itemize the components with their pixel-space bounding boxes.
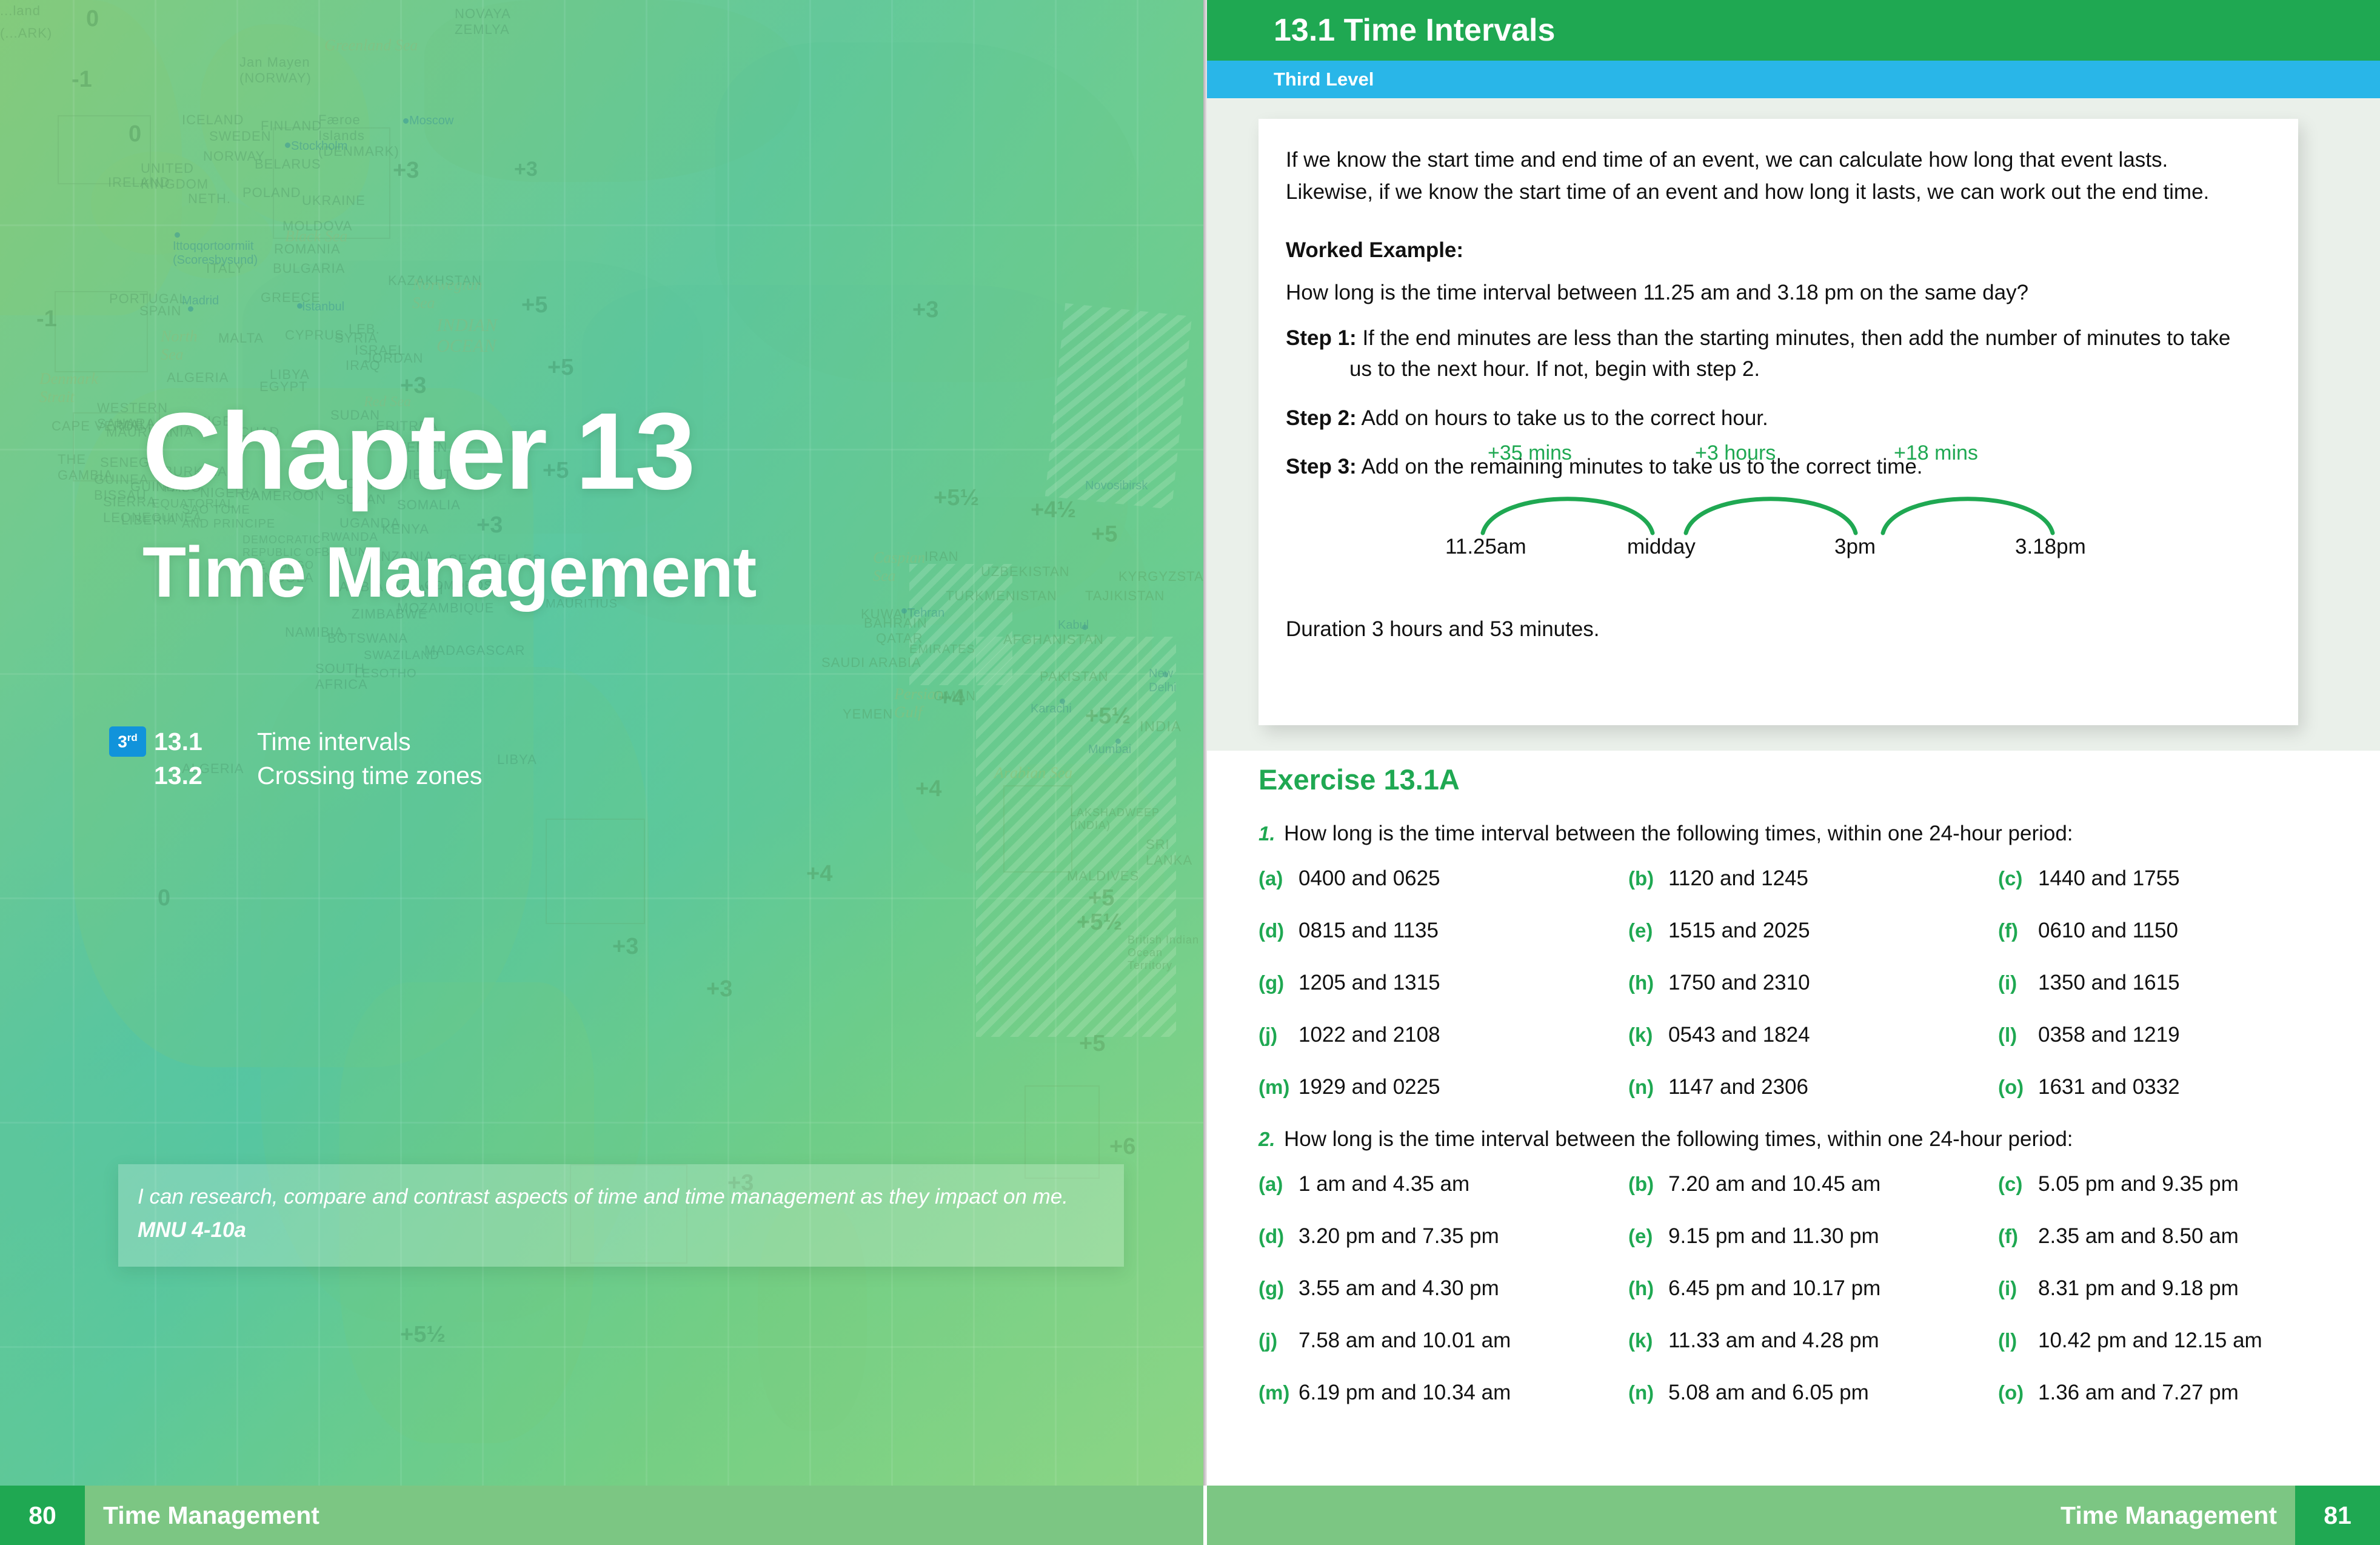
question-item-row: (g)1205 and 1315 (h)1750 and 2310 (i)135… (1259, 971, 2344, 995)
learning-intention-box: I can research, compare and contrast asp… (118, 1164, 1124, 1267)
question-item[interactable]: (e)9.15 pm and 11.30 pm (1628, 1224, 1998, 1248)
right-page: 13.1 Time Intervals Third Level If we kn… (1207, 0, 2380, 1545)
item-text: 1350 and 1615 (2038, 971, 2180, 995)
question-item[interactable]: (o)1631 and 0332 (1998, 1075, 2368, 1099)
question-item[interactable]: (n)5.08 am and 6.05 pm (1628, 1381, 1998, 1405)
question-2-head: 2. How long is the time interval between… (1259, 1127, 2344, 1151)
item-text: 1515 and 2025 (1668, 919, 1810, 943)
learning-intention-text: I can research, compare and contrast asp… (138, 1182, 1105, 1211)
worked-example-question: How long is the time interval between 11… (1286, 281, 2274, 305)
item-letter: (k) (1628, 1329, 1668, 1352)
item-letter: (b) (1628, 1173, 1668, 1196)
toc-item-13-2[interactable]: 13.2 Crossing time zones (109, 759, 482, 793)
level-badge-label: 3rd (118, 732, 138, 751)
question-1-number: 1. (1259, 822, 1284, 845)
textbook-spread: 0 -1 0 -1 +3 +3 +3 . . . . +5 . +3 +5 +3… (0, 0, 2380, 1545)
item-text: 1120 and 1245 (1668, 866, 1808, 891)
question-item[interactable]: (j)7.58 am and 10.01 am (1259, 1329, 1628, 1353)
item-letter: (a) (1259, 867, 1299, 890)
step-1-line-2: us to the next hour. If not, begin with … (1349, 357, 1760, 381)
question-1-prompt: How long is the time interval between th… (1284, 822, 2073, 846)
exercise-title: Exercise 13.1A (1259, 763, 2344, 796)
item-text: 3.20 pm and 7.35 pm (1299, 1224, 1499, 1248)
question-item[interactable]: (k)0543 and 1824 (1628, 1023, 1998, 1047)
item-letter: (d) (1259, 1225, 1299, 1248)
question-item[interactable]: (m)6.19 pm and 10.34 am (1259, 1381, 1628, 1405)
item-letter: (k) (1628, 1024, 1668, 1047)
question-item[interactable]: (h)1750 and 2310 (1628, 971, 1998, 995)
question-1-items: (a)0400 and 0625 (b)1120 and 1245 (c)144… (1259, 866, 2344, 1099)
item-letter: (i) (1998, 971, 2038, 994)
item-text: 0400 and 0625 (1299, 866, 1440, 891)
item-letter: (f) (1998, 1225, 2038, 1248)
question-item[interactable]: (g)3.55 am and 4.30 pm (1259, 1276, 1628, 1301)
item-letter: (j) (1259, 1024, 1299, 1047)
item-text: 1022 and 2108 (1299, 1023, 1440, 1047)
item-letter: (b) (1628, 867, 1668, 890)
question-item-row: (d)3.20 pm and 7.35 pm (e)9.15 pm and 11… (1259, 1224, 2344, 1248)
item-letter: (g) (1259, 971, 1299, 994)
left-page-number: 80 (0, 1486, 85, 1545)
item-text: 2.35 am and 8.50 am (2038, 1224, 2239, 1248)
question-item-row: (j)1022 and 2108 (k)0543 and 1824 (l)035… (1259, 1023, 2344, 1047)
left-page: 0 -1 0 -1 +3 +3 +3 . . . . +5 . +3 +5 +3… (0, 0, 1203, 1545)
item-letter: (m) (1259, 1076, 1299, 1099)
question-item[interactable]: (g)1205 and 1315 (1259, 971, 1628, 995)
tick-label-3: 3pm (1834, 535, 1876, 559)
item-text: 11.33 am and 4.28 pm (1668, 1329, 1879, 1353)
arc-label-3: +18 mins (1894, 441, 1978, 465)
question-item[interactable]: (o)1.36 am and 7.27 pm (1998, 1381, 2368, 1405)
worked-example-step-2: Step 2: Add on hours to take us to the c… (1286, 403, 2274, 434)
question-item[interactable]: (i)8.31 pm and 9.18 pm (1998, 1276, 2368, 1301)
arc-label-1: +35 mins (1488, 441, 1572, 465)
question-2-prompt: How long is the time interval between th… (1284, 1127, 2073, 1151)
tick-label-2: midday (1627, 535, 1696, 559)
step-1-label: Step 1: (1286, 326, 1357, 350)
question-item[interactable]: (d)3.20 pm and 7.35 pm (1259, 1224, 1628, 1248)
step-3-label: Step 3: (1286, 455, 1357, 478)
question-item[interactable]: (f)2.35 am and 8.50 am (1998, 1224, 2368, 1248)
toc-label: Crossing time zones (257, 762, 482, 790)
item-letter: (n) (1628, 1381, 1668, 1404)
worked-example-step-1: Step 1: If the end minutes are less than… (1286, 323, 2274, 354)
question-item[interactable]: (f)0610 and 1150 (1998, 919, 2368, 943)
level-badge-third: 3rd (109, 726, 146, 757)
toc-number: 13.2 (154, 762, 257, 790)
toc-label: Time intervals (257, 728, 411, 756)
question-item-row: (m)6.19 pm and 10.34 am (n)5.08 am and 6… (1259, 1381, 2344, 1405)
item-letter: (i) (1998, 1277, 2038, 1300)
item-text: 0358 and 1219 (2038, 1023, 2180, 1047)
item-letter: (e) (1628, 1225, 1668, 1248)
step-1-line-1: If the end minutes are less than the sta… (1362, 326, 2230, 350)
example-intro-line-1: If we know the start time and end time o… (1286, 144, 2274, 176)
worked-example-step-1-cont: us to the next hour. If not, begin with … (1286, 354, 2274, 385)
question-2-items: (a)1 am and 4.35 am (b)7.20 am and 10.45… (1259, 1172, 2344, 1405)
item-text: 10.42 pm and 12.15 am (2038, 1329, 2262, 1353)
worked-example-duration: Duration 3 hours and 53 minutes. (1286, 617, 2256, 642)
item-text: 0543 and 1824 (1668, 1023, 1810, 1047)
item-letter: (m) (1259, 1381, 1299, 1404)
item-text: 6.19 pm and 10.34 am (1299, 1381, 1511, 1405)
item-letter: (n) (1628, 1076, 1668, 1099)
question-item-row: (a)1 am and 4.35 am (b)7.20 am and 10.45… (1259, 1172, 2344, 1196)
question-item-row: (d)0815 and 1135 (e)1515 and 2025 (f)061… (1259, 919, 2344, 943)
level-bar (1207, 61, 2380, 98)
item-letter: (c) (1998, 1173, 2038, 1196)
question-item[interactable]: (m)1929 and 0225 (1259, 1075, 1628, 1099)
level-badge-placeholder (109, 760, 146, 791)
question-item[interactable]: (a)0400 and 0625 (1259, 866, 1628, 891)
exercise-section: Exercise 13.1A 1. How long is the time i… (1259, 763, 2344, 1433)
worked-example-card: If we know the start time and end time o… (1259, 119, 2298, 725)
item-letter: (l) (1998, 1329, 2038, 1352)
item-text: 1 am and 4.35 am (1299, 1172, 1469, 1196)
item-letter: (a) (1259, 1173, 1299, 1196)
step-2-line-1: Add on hours to take us to the correct h… (1362, 406, 1768, 430)
question-item[interactable]: (l)0358 and 1219 (1998, 1023, 2368, 1047)
item-text: 1750 and 2310 (1668, 971, 1810, 995)
example-intro-line-2: Likewise, if we know the start time of a… (1286, 176, 2274, 209)
item-letter: (f) (1998, 919, 2038, 942)
question-item-row: (j)7.58 am and 10.01 am (k)11.33 am and … (1259, 1329, 2344, 1353)
chapter-contents-list: 3rd 13.1 Time intervals 13.2 Crossing ti… (109, 725, 482, 793)
item-text: 0610 and 1150 (2038, 919, 2178, 943)
question-item[interactable]: (a)1 am and 4.35 am (1259, 1172, 1628, 1196)
question-2-number: 2. (1259, 1128, 1284, 1151)
item-text: 8.31 pm and 9.18 pm (2038, 1276, 2239, 1301)
timeline-arcs (1459, 469, 2113, 536)
arc-label-2: +3 hours (1695, 441, 1776, 465)
item-letter: (l) (1998, 1024, 2038, 1047)
question-1-head: 1. How long is the time interval between… (1259, 822, 2344, 846)
item-text: 7.58 am and 10.01 am (1299, 1329, 1511, 1353)
item-text: 7.20 am and 10.45 am (1668, 1172, 1880, 1196)
left-footer-title: Time Management (103, 1486, 319, 1545)
chapter-title: Chapter 13 (142, 397, 694, 506)
item-letter: (j) (1259, 1329, 1299, 1352)
item-text: 6.45 pm and 10.17 pm (1668, 1276, 1880, 1301)
worked-example-label: Worked Example: (1286, 238, 2274, 263)
step-2-label: Step 2: (1286, 406, 1357, 430)
question-item[interactable]: (j)1022 and 2108 (1259, 1023, 1628, 1047)
item-letter: (h) (1628, 971, 1668, 994)
item-text: 1.36 am and 7.27 pm (2038, 1381, 2239, 1405)
tick-label-1: 11.25am (1445, 535, 1526, 559)
item-text: 1929 and 0225 (1299, 1075, 1440, 1099)
question-item-row: (g)3.55 am and 4.30 pm (h)6.45 pm and 10… (1259, 1276, 2344, 1301)
item-text: 3.55 am and 4.30 pm (1299, 1276, 1499, 1301)
item-text: 1631 and 0332 (2038, 1075, 2180, 1099)
question-item[interactable]: (c)1440 and 1755 (1998, 866, 2368, 891)
toc-number: 13.1 (154, 728, 257, 756)
question-item[interactable]: (h)6.45 pm and 10.17 pm (1628, 1276, 1998, 1301)
question-item[interactable]: (k)11.33 am and 4.28 pm (1628, 1329, 1998, 1353)
question-item[interactable]: (i)1350 and 1615 (1998, 971, 2368, 995)
question-item[interactable]: (n)1147 and 2306 (1628, 1075, 1998, 1099)
learning-intention-code: MNU 4-10a (138, 1218, 1105, 1242)
right-page-footer: 81 Time Management (1207, 1486, 2380, 1545)
level-bar-label: Third Level (1274, 61, 1374, 98)
question-2: 2. How long is the time interval between… (1259, 1127, 2344, 1405)
time-interval-diagram: +35 mins +3 hours +18 mins 11.25am midda… (1459, 469, 2113, 572)
item-text: 9.15 pm and 11.30 pm (1668, 1224, 1879, 1248)
question-item[interactable]: (b)7.20 am and 10.45 am (1628, 1172, 1998, 1196)
chapter-subtitle: Time Management (142, 537, 756, 608)
item-text: 5.08 am and 6.05 pm (1668, 1381, 1869, 1405)
item-letter: (o) (1998, 1381, 2038, 1404)
question-item[interactable]: (e)1515 and 2025 (1628, 919, 1998, 943)
left-page-footer: 80 Time Management (0, 1486, 1203, 1545)
right-page-number: 81 (2295, 1486, 2380, 1545)
section-title: 13.1 Time Intervals (1274, 0, 1555, 61)
item-letter: (h) (1628, 1277, 1668, 1300)
question-item[interactable]: (l)10.42 pm and 12.15 am (1998, 1329, 2368, 1353)
item-text: 1205 and 1315 (1299, 971, 1440, 995)
question-item[interactable]: (b)1120 and 1245 (1628, 866, 1998, 891)
item-text: 1440 and 1755 (2038, 866, 2180, 891)
item-letter: (g) (1259, 1277, 1299, 1300)
item-text: 0815 and 1135 (1299, 919, 1439, 943)
right-footer-title: Time Management (2061, 1486, 2277, 1545)
item-letter: (e) (1628, 919, 1668, 942)
item-text: 1147 and 2306 (1668, 1075, 1808, 1099)
item-text: 5.05 pm and 9.35 pm (2038, 1172, 2239, 1196)
toc-item-13-1[interactable]: 3rd 13.1 Time intervals (109, 725, 482, 759)
question-item-row: (a)0400 and 0625 (b)1120 and 1245 (c)144… (1259, 866, 2344, 891)
item-letter: (c) (1998, 867, 2038, 890)
tick-label-4: 3.18pm (2015, 535, 2086, 559)
question-item[interactable]: (d)0815 and 1135 (1259, 919, 1628, 943)
question-item[interactable]: (c)5.05 pm and 9.35 pm (1998, 1172, 2368, 1196)
item-letter: (o) (1998, 1076, 2038, 1099)
item-letter: (d) (1259, 919, 1299, 942)
question-1: 1. How long is the time interval between… (1259, 822, 2344, 1099)
question-item-row: (m)1929 and 0225 (n)1147 and 2306 (o)163… (1259, 1075, 2344, 1099)
